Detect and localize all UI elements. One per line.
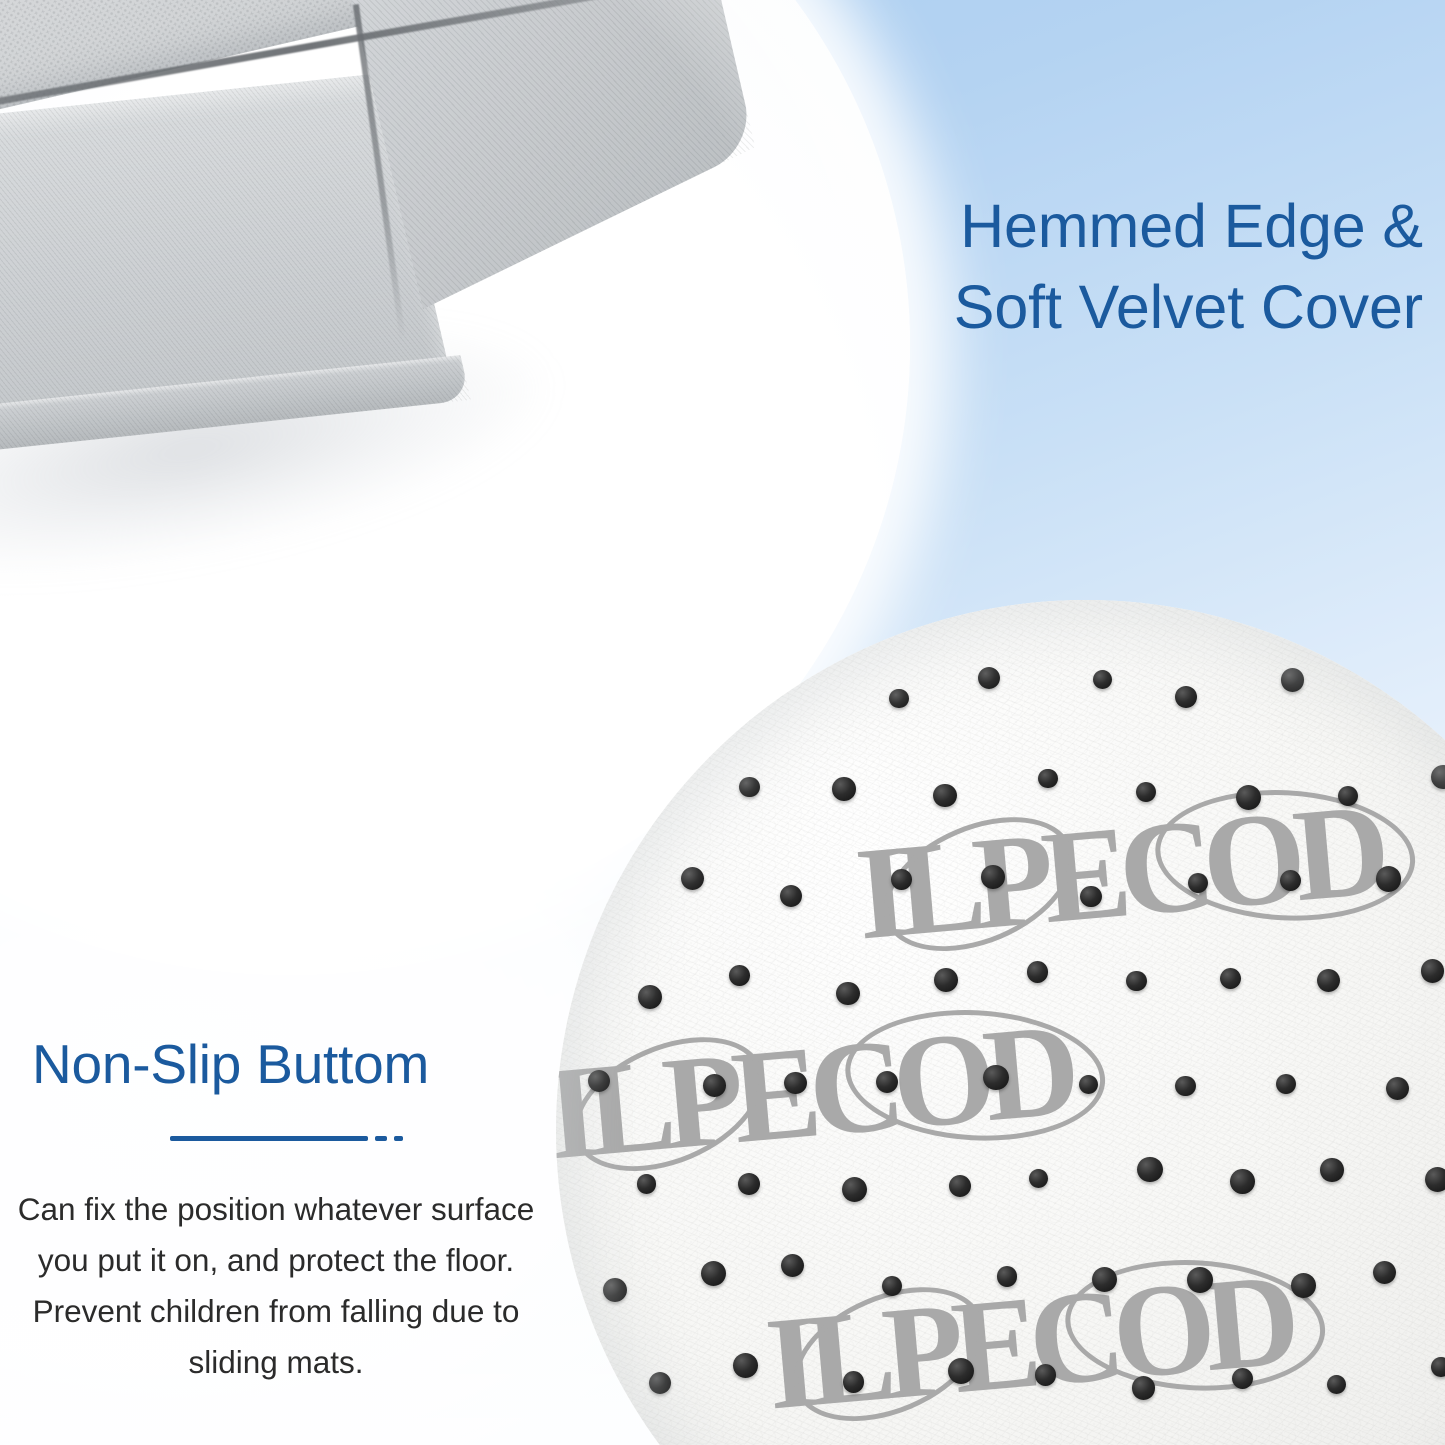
title-divider	[170, 1136, 404, 1141]
headline-line-1: Hemmed Edge &	[960, 192, 1423, 260]
divider-dash-2	[394, 1136, 403, 1141]
headline-line-2: Soft Velvet Cover	[723, 267, 1423, 348]
feature-title: Non-Slip Buttom	[32, 1032, 429, 1096]
product-feature-image: ILPECOD ILPECOD ILPECOD Hemmed Edge & So…	[0, 0, 1445, 1445]
divider-bar	[170, 1136, 368, 1141]
headline: Hemmed Edge & Soft Velvet Cover	[723, 186, 1423, 347]
feature-body-text: Can fix the position whatever surface yo…	[12, 1184, 540, 1388]
non-slip-mat-photo: ILPECOD ILPECOD ILPECOD	[556, 600, 1445, 1445]
divider-dash-1	[375, 1136, 387, 1141]
